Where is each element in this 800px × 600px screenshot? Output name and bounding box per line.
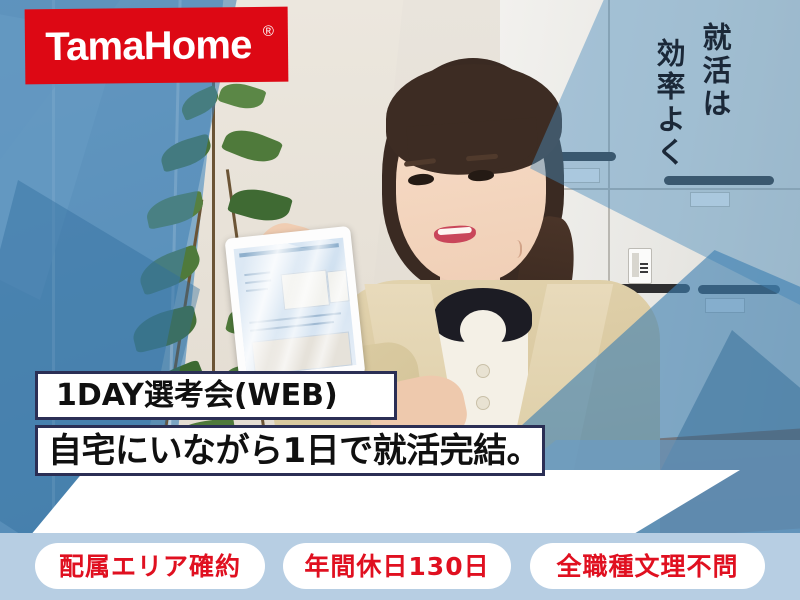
plant-leaf <box>227 182 293 227</box>
headline-line-1: 1DAY選考会(WEB) <box>56 381 338 411</box>
badge-label: 配属エリア確約 <box>59 554 241 579</box>
tamahome-logo[interactable]: TamaHome ® <box>25 7 289 85</box>
tablet-screen <box>234 238 357 377</box>
plant-leaf <box>221 123 283 170</box>
badge-area-guarantee[interactable]: 配属エリア確約 <box>35 543 265 589</box>
registered-trademark-icon: ® <box>263 23 274 40</box>
badge-annual-holidays[interactable]: 年間休日130日 <box>283 543 511 589</box>
badge-all-majors[interactable]: 全職種文理不問 <box>530 543 765 589</box>
vertical-tagline-left: 効率よく <box>654 38 683 170</box>
button <box>476 364 490 378</box>
badge-row: 配属エリア確約 年間休日130日 全職種文理不問 <box>0 543 800 589</box>
vertical-tagline-right: 就活は <box>700 22 729 121</box>
nose <box>508 240 522 258</box>
tablet-device <box>225 226 366 388</box>
headline-box-primary: 1DAY選考会(WEB) <box>35 371 397 420</box>
logo-wordmark: TamaHome <box>45 24 268 66</box>
collar <box>434 288 532 342</box>
recruiting-banner: TamaHome ® 就活は 効率よく 1DAY選考会(WEB) 自宅にいながら… <box>0 0 800 600</box>
headline-line-2: 自宅にいながら1日で就活完結。 <box>48 434 540 468</box>
badge-label: 年間休日130日 <box>304 554 489 579</box>
button <box>476 396 490 410</box>
plant-leaf <box>217 78 266 114</box>
headline-box-secondary: 自宅にいながら1日で就活完結。 <box>35 425 545 476</box>
badge-label: 全職種文理不問 <box>556 554 738 579</box>
